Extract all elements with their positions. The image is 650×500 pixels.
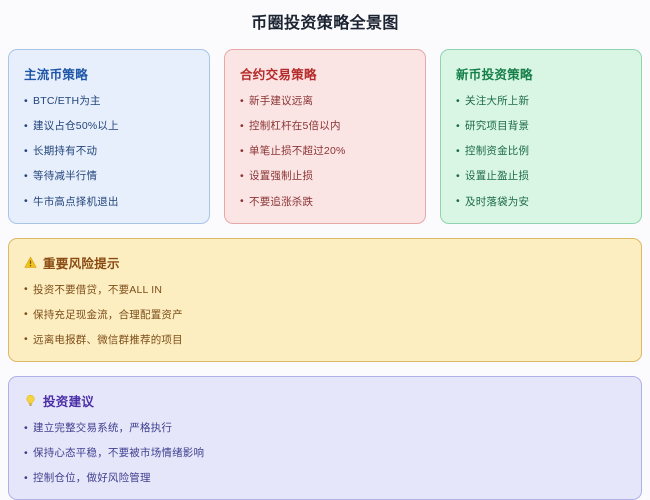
list-item: 保持充足现金流，合理配置资产 [24,309,626,322]
list-item: 等待减半行情 [24,170,195,183]
panel-title-text: 重要风险提示 [43,253,120,272]
strategy-card-row: 主流币策略 BTC/ETH为主 建议占仓50%以上 长期持有不动 等待减半行情 … [8,49,642,224]
risk-warning-panel: 重要风险提示 投资不要借贷，不要ALL IN 保持充足现金流，合理配置资产 远离… [8,238,642,362]
warning-triangle-icon [24,256,37,269]
list-item: BTC/ETH为主 [24,95,195,108]
list-item: 控制资金比例 [456,145,627,158]
list-item: 远离电报群、微信群推荐的项目 [24,334,626,347]
panel-title: 投资建议 [24,391,626,410]
list-item: 建议占仓50%以上 [24,120,195,133]
lightbulb-icon [24,394,37,407]
card-title: 主流币策略 [24,64,195,83]
panel-item-list: 建立完整交易系统，严格执行 保持心态平稳，不要被市场情绪影响 控制仓位，做好风险… [24,422,626,485]
page-title: 币圈投资策略全景图 [8,0,642,49]
card-item-list: 关注大所上新 研究项目背景 控制资金比例 设置止盈止损 及时落袋为安 [456,95,627,209]
list-item: 新手建议远离 [240,95,411,108]
list-item: 单笔止损不超过20% [240,145,411,158]
investment-advice-panel: 投资建议 建立完整交易系统，严格执行 保持心态平稳，不要被市场情绪影响 控制仓位… [8,376,642,500]
panel-item-list: 投资不要借贷，不要ALL IN 保持充足现金流，合理配置资产 远离电报群、微信群… [24,284,626,347]
list-item: 控制仓位，做好风险管理 [24,472,626,485]
list-item: 不要追涨杀跌 [240,196,411,209]
list-item: 设置止盈止损 [456,170,627,183]
strategy-card-mainstream-coin: 主流币策略 BTC/ETH为主 建议占仓50%以上 长期持有不动 等待减半行情 … [8,49,210,224]
list-item: 建立完整交易系统，严格执行 [24,422,626,435]
strategy-card-new-coin: 新币投资策略 关注大所上新 研究项目背景 控制资金比例 设置止盈止损 及时落袋为… [440,49,642,224]
panel-title: 重要风险提示 [24,253,626,272]
list-item: 牛市高点择机退出 [24,196,195,209]
list-item: 设置强制止损 [240,170,411,183]
list-item: 及时落袋为安 [456,196,627,209]
list-item: 长期持有不动 [24,145,195,158]
list-item: 投资不要借贷，不要ALL IN [24,284,626,297]
card-title: 新币投资策略 [456,64,627,83]
list-item: 关注大所上新 [456,95,627,108]
card-item-list: BTC/ETH为主 建议占仓50%以上 长期持有不动 等待减半行情 牛市高点择机… [24,95,195,209]
list-item: 研究项目背景 [456,120,627,133]
card-title: 合约交易策略 [240,64,411,83]
panel-title-text: 投资建议 [43,391,94,410]
list-item: 控制杠杆在5倍以内 [240,120,411,133]
list-item: 保持心态平稳，不要被市场情绪影响 [24,447,626,460]
strategy-card-contract-trading: 合约交易策略 新手建议远离 控制杠杆在5倍以内 单笔止损不超过20% 设置强制止… [224,49,426,224]
infographic-page: 币圈投资策略全景图 主流币策略 BTC/ETH为主 建议占仓50%以上 长期持有… [0,0,650,495]
card-item-list: 新手建议远离 控制杠杆在5倍以内 单笔止损不超过20% 设置强制止损 不要追涨杀… [240,95,411,209]
